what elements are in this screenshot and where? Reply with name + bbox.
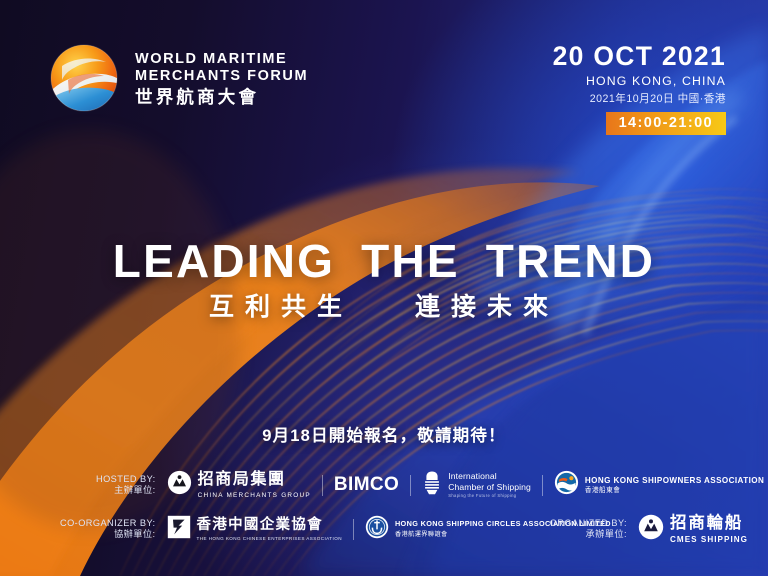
event-date-cn: 2021年10月20日 中國·香港 [553,91,726,106]
event-date: 20 OCT 2021 [553,42,726,70]
sponsor-row-co-organizer: CO-ORGANIZER BY: 協辦單位: 香港中國企業協會 THE HONG… [60,512,611,546]
organized-by-label-cn: 承辦單位: [550,529,627,541]
hong-kong-chinese-enterprises-association-text: 香港中國企業協會 THE HONG KONG CHINESE ENTERPRIS… [197,517,342,541]
world-maritime-globe-logo [46,40,122,116]
brand-name-en-line1: WORLD MARITIME [135,51,308,68]
international-chamber-of-shipping-logo [422,470,442,501]
event-poster: WORLD MARITIME MERCHANTS FORUM 世界航商大會 20… [0,0,768,576]
international-chamber-of-shipping-text: International Chamber of Shipping Shapin… [448,471,531,499]
brand-wordmark: WORLD MARITIME MERCHANTS FORUM 世界航商大會 [135,49,308,107]
sponsor-divider [322,475,323,496]
hosted-by-label-en: HOSTED BY: [96,474,156,486]
bimco-wordmark: BIMCO [334,474,399,496]
headline-en: LEADINGTHETREND [0,236,768,286]
international-chamber-of-shipping-en: International Chamber of Shipping [448,471,531,492]
hong-kong-shipowners-association-text: HONG KONG SHIPOWNERS ASSOCIATION 香港船東會 [585,476,764,495]
sponsor-divider [542,475,543,496]
cmes-shipping-text: 招商輪船 CMES SHIPPING [670,514,748,544]
sponsor-international-chamber-of-shipping: International Chamber of Shipping Shapin… [422,470,531,501]
hong-kong-shipowners-association-en: HONG KONG SHIPOWNERS ASSOCIATION [585,476,764,485]
china-merchants-group-en: CHINA MERCHANTS GROUP [198,492,311,499]
hong-kong-chinese-enterprises-association-logo [167,515,191,544]
announcement-text: 9月18日開始報名，敬請期待！ [0,422,768,446]
event-time-badge: 14:00-21:00 [606,112,726,135]
international-chamber-of-shipping-tagline: Shaping the Future of Shipping [448,494,531,499]
sponsor-hong-kong-chinese-enterprises-association: 香港中國企業協會 THE HONG KONG CHINESE ENTERPRIS… [167,515,342,544]
sponsor-hong-kong-shipowners-association: HONG KONG SHIPOWNERS ASSOCIATION 香港船東會 [554,470,764,500]
hong-kong-shipping-circles-association-logo [365,515,389,544]
event-date-block: 20 OCT 2021 HONG KONG, CHINA 2021年10月20日… [553,42,726,135]
headline-cn-part1: 互利共生 [209,293,353,321]
co-organizer-label: CO-ORGANIZER BY: 協辦單位: [60,518,156,541]
co-organizer-label-cn: 協辦單位: [60,529,156,541]
hong-kong-chinese-enterprises-association-cn: 香港中國企業協會 [197,517,342,534]
sponsor-divider [353,519,354,540]
china-merchants-group-text: 招商局集團 CHINA MERCHANTS GROUP [198,471,311,499]
china-merchants-group-cn: 招商局集團 [198,471,311,489]
sponsor-row-hosted: HOSTED BY: 主辦單位: 招商局集團 CHINA MERCHANTS G… [96,468,764,502]
brand-logo-block: WORLD MARITIME MERCHANTS FORUM 世界航商大會 [46,40,308,116]
headline-en-word2: THE [361,235,460,287]
headline-cn-part2: 連接未來 [415,293,559,321]
hong-kong-shipowners-association-logo [554,470,579,500]
cmes-shipping-logo [638,514,664,545]
hong-kong-chinese-enterprises-association-en: THE HONG KONG CHINESE ENTERPRISES ASSOCI… [197,536,342,541]
sponsor-divider [410,475,411,496]
sponsor-cmes-shipping: 招商輪船 CMES SHIPPING [638,514,748,545]
hosted-by-label: HOSTED BY: 主辦單位: [96,474,156,497]
bimco-text: BIMCO [334,474,399,496]
cmes-shipping-cn: 招商輪船 [670,514,748,533]
sponsor-bimco: BIMCO [334,474,399,496]
sponsor-row-organized: ORGANIZED BY: 承辦單位: 招商輪船 CMES SHIPPING [550,512,748,546]
headline-en-word1: LEADING [113,235,335,287]
organized-by-label-en: ORGANIZED BY: [550,518,627,530]
brand-name-en-line2: MERCHANTS FORUM [135,68,308,85]
cmes-shipping-en: CMES SHIPPING [670,535,748,544]
headline-cn: 互利共生連接未來 [0,293,768,321]
headline-block: LEADINGTHETREND 互利共生連接未來 [0,236,768,321]
event-city: HONG KONG, CHINA [553,74,726,88]
brand-name-cn: 世界航商大會 [135,89,308,107]
co-organizer-label-en: CO-ORGANIZER BY: [60,518,156,530]
hong-kong-shipowners-association-cn: 香港船東會 [585,487,764,495]
hosted-by-label-cn: 主辦單位: [96,485,156,497]
sponsor-china-merchants-group: 招商局集團 CHINA MERCHANTS GROUP [167,470,311,500]
headline-en-word3: TREND [486,235,655,287]
organized-by-label: ORGANIZED BY: 承辦單位: [550,518,627,541]
china-merchants-group-logo [167,470,192,500]
